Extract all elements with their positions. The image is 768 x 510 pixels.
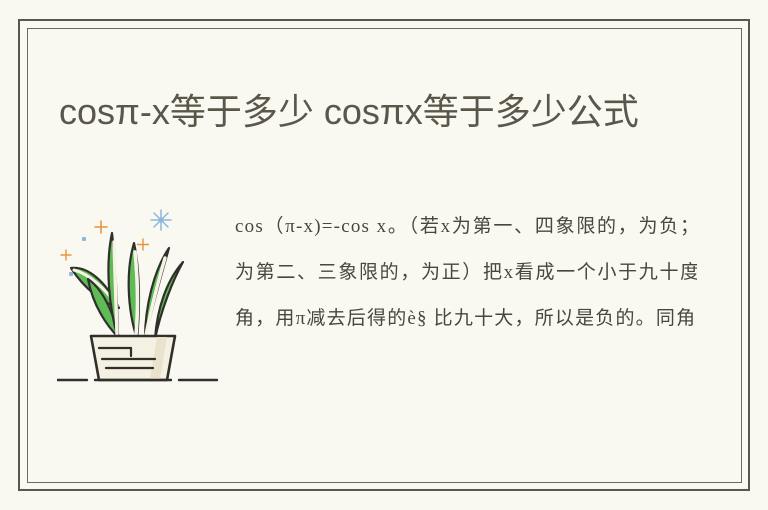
- sparkle-plus-icon: [95, 221, 107, 233]
- article-body-container: cos（π-x)=-cos x。（若x为第一、四象限的，为负；若为第二、三象限的…: [235, 204, 697, 464]
- snowflake-icon: [151, 210, 171, 230]
- article-content: cosπ-x等于多少 cosπx等于多少公式: [27, 28, 742, 483]
- plant-leaves: [71, 233, 183, 339]
- page-title: cosπ-x等于多少 cosπx等于多少公式: [59, 86, 679, 138]
- sparkle-plus-small-icon: [61, 250, 71, 260]
- plant-pot: [91, 336, 175, 380]
- potted-plant-illustration: [57, 196, 227, 396]
- sparkle-plus-right-icon: [138, 239, 149, 250]
- article-body-text: cos（π-x)=-cos x。（若x为第一、四象限的，为负；若为第二、三象限的…: [235, 204, 697, 342]
- article-page: cosπ-x等于多少 cosπx等于多少公式: [0, 0, 768, 510]
